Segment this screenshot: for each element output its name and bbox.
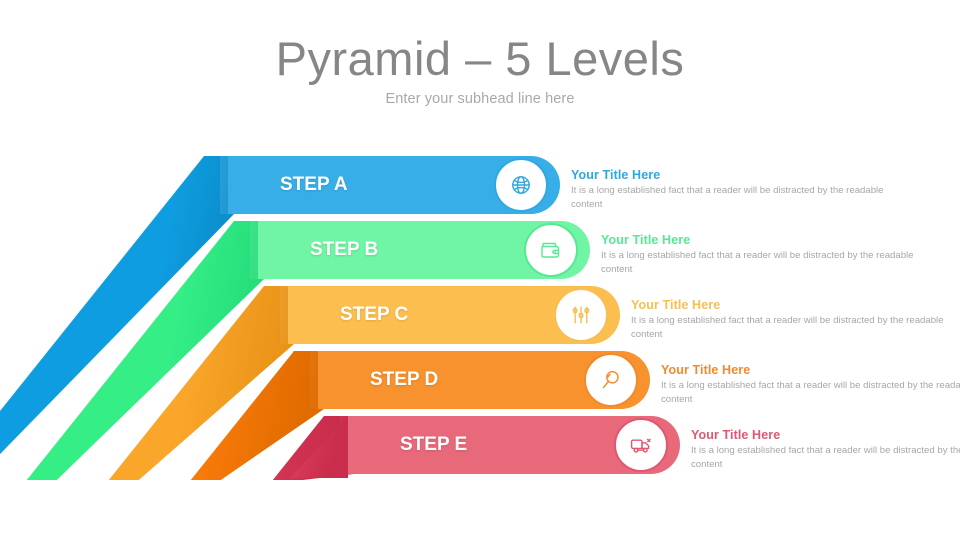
truck-icon	[629, 433, 653, 457]
icon-badge-5[interactable]	[614, 418, 668, 472]
pyramid-diagram: STEP AYour Title HereIt is a long establ…	[0, 150, 960, 500]
level-body-5: It is a long established fact that a rea…	[691, 444, 960, 471]
slide-canvas: Pyramid – 5 Levels Enter your subhead li…	[0, 0, 960, 540]
level-description-5: Your Title HereIt is a long established …	[691, 428, 960, 471]
page-title: Pyramid – 5 Levels	[0, 34, 960, 85]
pyramid-level-5[interactable]: STEP EYour Title HereIt is a long establ…	[0, 150, 960, 500]
level-title-5: Your Title Here	[691, 428, 960, 442]
step-label-5: STEP E	[400, 416, 467, 474]
page-subtitle: Enter your subhead line here	[0, 91, 960, 107]
